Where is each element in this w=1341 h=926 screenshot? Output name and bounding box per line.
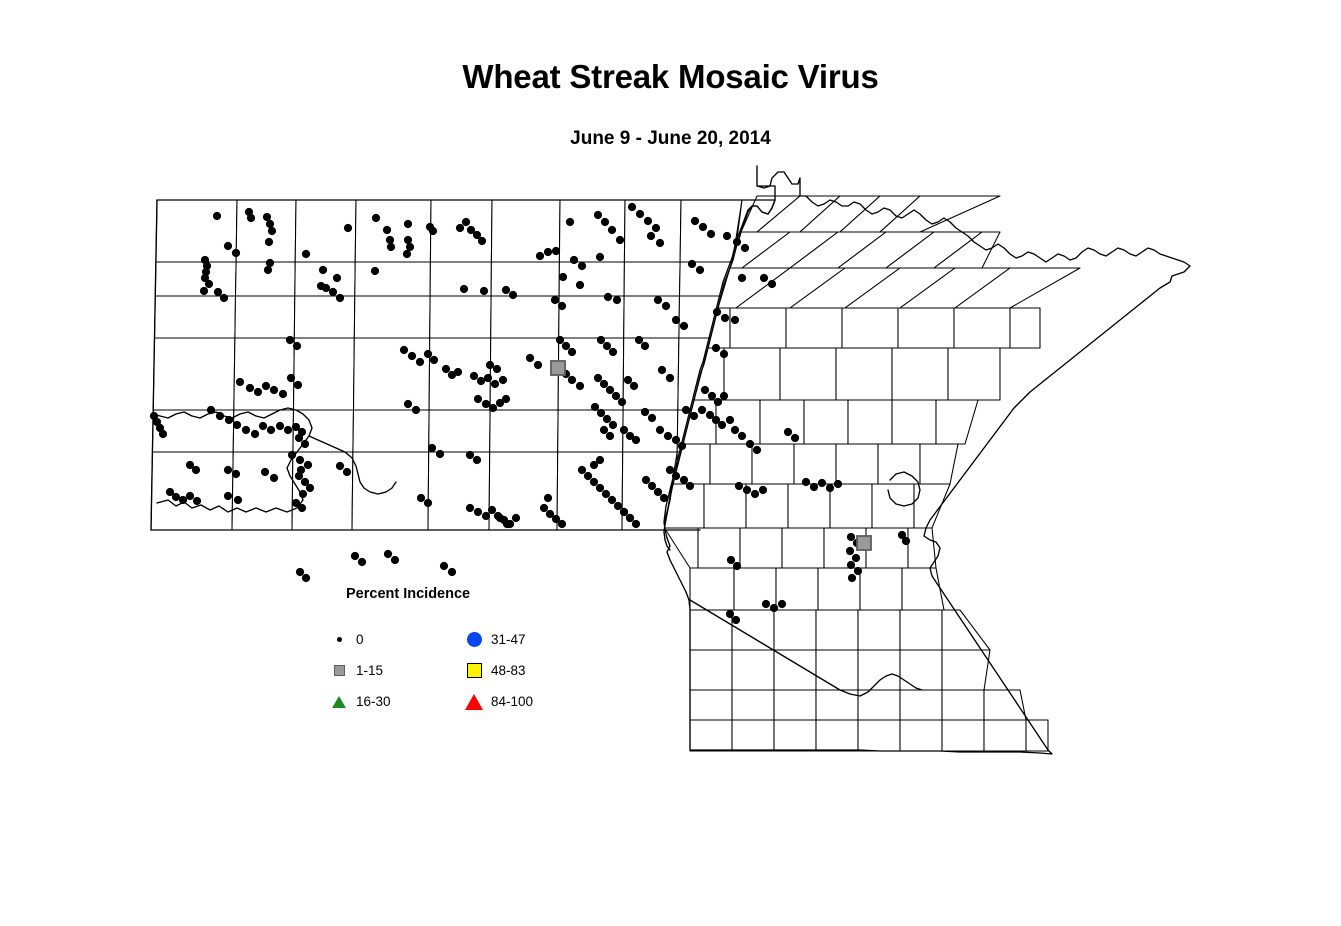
county-shape: [558, 410, 623, 452]
data-point-zero: [902, 537, 910, 545]
data-point-zero: [466, 504, 474, 512]
county-shape: [774, 650, 816, 690]
county-shape: [942, 650, 990, 690]
county-shape: [836, 348, 892, 400]
data-point-zero: [493, 365, 501, 373]
data-point-zero: [597, 409, 605, 417]
data-point-zero: [534, 361, 542, 369]
data-point-zero: [608, 226, 616, 234]
county-shape: [352, 452, 429, 530]
county-shape: [816, 720, 858, 751]
data-point-zero: [266, 259, 274, 267]
data-point-zero: [466, 451, 474, 459]
data-point-zero: [578, 262, 586, 270]
data-point-zero: [200, 287, 208, 295]
data-point-zero: [293, 342, 301, 350]
data-point-zero: [664, 432, 672, 440]
data-point-zero: [604, 293, 612, 301]
data-point-zero: [544, 248, 552, 256]
county-shape: [732, 690, 774, 720]
data-point-zero: [496, 514, 504, 522]
small-black-dot-icon: [326, 629, 352, 651]
data-point-zero: [440, 562, 448, 570]
data-point-zero: [302, 574, 310, 582]
county-shape: [234, 338, 294, 410]
legend-item-48-83: 48-83: [461, 655, 533, 686]
data-point-zero: [301, 440, 309, 448]
county-shape: [235, 296, 295, 338]
data-point-zero: [406, 243, 414, 251]
data-point-zero: [662, 302, 670, 310]
legend-item-84-100: 84-100: [461, 686, 533, 717]
county-shape: [892, 348, 948, 400]
data-point-zero: [286, 336, 294, 344]
data-point-zero: [648, 482, 656, 490]
county-shape: [1026, 720, 1048, 751]
data-point-zero: [721, 314, 729, 322]
data-point-zero: [296, 568, 304, 576]
data-point-zero: [474, 395, 482, 403]
legend-item-label: 31-47: [491, 632, 526, 647]
legend-item-0: 0: [326, 624, 391, 655]
data-point-zero: [608, 496, 616, 504]
data-point-zero: [489, 404, 497, 412]
data-point-zero: [412, 406, 420, 414]
data-point-zero: [416, 358, 424, 366]
data-point-zero: [616, 236, 624, 244]
data-point-zero: [224, 492, 232, 500]
county-shape: [690, 610, 732, 650]
county-shape: [860, 568, 902, 610]
legend-title: Percent Incidence: [346, 586, 470, 602]
data-point-zero: [594, 211, 602, 219]
page-root: Wheat Streak Mosaic Virus June 9 - June …: [0, 0, 1341, 926]
county-shape: [942, 610, 990, 650]
data-point-zero: [470, 372, 478, 380]
county-shape: [816, 650, 858, 690]
data-point-zero: [214, 288, 222, 296]
county-shape: [836, 444, 878, 484]
county-shape: [816, 610, 858, 650]
data-point-zero: [263, 213, 271, 221]
data-point-zero: [302, 250, 310, 258]
data-point-zero: [562, 342, 570, 350]
red-triangle-glyph: [465, 694, 483, 710]
data-point-zero: [482, 400, 490, 408]
data-point-zero: [192, 466, 200, 474]
data-point-zero: [682, 406, 690, 414]
data-point-zero: [738, 274, 746, 282]
county-shape: [788, 484, 830, 528]
legend-item-16-30: 16-30: [326, 686, 391, 717]
data-point-zero: [417, 494, 425, 502]
data-point-zero: [644, 217, 652, 225]
county-shape: [730, 308, 786, 348]
data-point-zero: [491, 380, 499, 388]
data-point-zero: [632, 520, 640, 528]
data-point-zero: [220, 294, 228, 302]
data-point-zero: [488, 506, 496, 514]
legend-item-label: 1-15: [356, 663, 383, 678]
data-point-zero: [186, 492, 194, 500]
data-point-zero: [319, 266, 327, 274]
data-point-zero: [641, 342, 649, 350]
data-point-zero: [597, 336, 605, 344]
data-point-zero: [296, 456, 304, 464]
data-point-zero: [566, 218, 574, 226]
county-shape: [942, 690, 984, 720]
legend-item-label: 84-100: [491, 694, 533, 709]
data-point-zero: [474, 508, 482, 516]
data-point-zero: [179, 496, 187, 504]
data-point-zero: [642, 476, 650, 484]
data-point-zero: [264, 266, 272, 274]
data-point-zero: [666, 466, 674, 474]
data-point-zero: [404, 236, 412, 244]
data-point-zero: [343, 468, 351, 476]
data-point-zero: [242, 426, 250, 434]
data-point-zero: [284, 426, 292, 434]
data-point-zero: [647, 232, 655, 240]
county-shape: [690, 690, 732, 720]
data-point-zero: [270, 474, 278, 482]
county-shape: [900, 720, 942, 751]
data-point-zero: [306, 484, 314, 492]
data-point-zero: [224, 242, 232, 250]
county-shape: [690, 650, 732, 690]
data-point-zero: [652, 224, 660, 232]
data-point-zero: [672, 436, 680, 444]
data-point-zero: [701, 386, 709, 394]
data-point-zero: [442, 365, 450, 373]
data-point-zero: [714, 398, 722, 406]
data-point-zero: [448, 568, 456, 576]
data-point-zero: [609, 421, 617, 429]
data-point-zero: [159, 430, 167, 438]
data-point-zero: [344, 224, 352, 232]
county-shape: [294, 338, 355, 410]
county-shape: [690, 720, 732, 751]
data-point-zero: [632, 436, 640, 444]
county-shape: [954, 308, 1010, 348]
county-shape: [842, 308, 898, 348]
county-shape: [294, 296, 355, 338]
data-point-zero: [430, 356, 438, 364]
data-point-zero: [834, 480, 842, 488]
data-point-zero: [606, 386, 614, 394]
county-shape: [740, 528, 782, 568]
county-shape: [354, 296, 430, 338]
data-point-zero: [172, 493, 180, 501]
data-point-zero: [428, 444, 436, 452]
county-shape: [355, 200, 431, 262]
data-point-zero: [298, 504, 306, 512]
data-point-zero: [680, 322, 688, 330]
county-shape: [559, 262, 624, 296]
data-point-zero: [746, 440, 754, 448]
data-point-zero: [601, 218, 609, 226]
data-point-zero: [603, 415, 611, 423]
data-point-zero: [735, 482, 743, 490]
data-point-zero: [658, 366, 666, 374]
data-point-zero: [686, 482, 694, 490]
data-point-zero: [391, 556, 399, 564]
county-shape: [858, 720, 900, 751]
data-point-zero: [568, 348, 576, 356]
data-point-zero: [404, 220, 412, 228]
data-point-zero: [613, 296, 621, 304]
county-shape: [429, 410, 490, 452]
data-point-zero: [429, 227, 437, 235]
county-shape: [732, 720, 774, 751]
data-point-zero: [473, 456, 481, 464]
data-point-zero: [265, 238, 273, 246]
data-point-zero: [387, 243, 395, 251]
county-shape: [892, 400, 936, 444]
data-point-zero: [636, 210, 644, 218]
data-point-zero: [503, 520, 511, 528]
county-shape: [900, 650, 942, 690]
county-shape: [898, 308, 954, 348]
data-point-zero: [720, 392, 728, 400]
data-point-zero: [372, 214, 380, 222]
data-point-zero: [596, 456, 604, 464]
data-point-zero: [251, 430, 259, 438]
county-shape: [557, 452, 623, 530]
data-point-zero: [288, 451, 296, 459]
data-point-zero: [552, 247, 560, 255]
gray-square-glyph: [334, 665, 345, 676]
data-point-zero: [620, 508, 628, 516]
data-point-zero: [234, 496, 242, 504]
county-shape: [153, 338, 235, 410]
county-shape: [794, 444, 836, 484]
legend-item-31-47: 31-47: [461, 624, 533, 655]
data-point-zero: [295, 472, 303, 480]
county-shape: [624, 296, 680, 338]
data-point-zero: [594, 374, 602, 382]
yellow-square-icon: [461, 660, 487, 682]
data-point-zero: [558, 520, 566, 528]
data-point-zero: [723, 232, 731, 240]
county-shape: [948, 348, 1000, 400]
data-point-zero: [502, 286, 510, 294]
data-point-zero: [791, 434, 799, 442]
county-shape: [920, 444, 958, 484]
data-point-zero: [509, 291, 517, 299]
data-point-zero: [696, 266, 704, 274]
data-point-zero: [628, 203, 636, 211]
data-point-zero: [818, 479, 826, 487]
data-point-zero: [299, 490, 307, 498]
data-point-zero: [698, 406, 706, 414]
small-black-dot-glyph: [337, 637, 342, 642]
county-shape: [732, 650, 774, 690]
data-point-zero: [247, 214, 255, 222]
legend-item-label: 0: [356, 632, 364, 647]
data-point-zero: [576, 382, 584, 390]
data-point-zero: [596, 253, 604, 261]
county-shape: [774, 610, 816, 650]
data-point-zero: [731, 426, 739, 434]
data-point-zero: [726, 416, 734, 424]
county-shape: [354, 338, 430, 410]
data-point-zero: [424, 350, 432, 358]
data-point-zero: [768, 280, 776, 288]
county-map: [0, 0, 1341, 926]
data-point-zero: [351, 552, 359, 560]
data-point-zero: [590, 478, 598, 486]
data-point-zero: [225, 416, 233, 424]
data-point-zero: [193, 497, 201, 505]
data-point-1-15: [551, 361, 565, 375]
data-point-zero: [478, 237, 486, 245]
county-shape: [782, 528, 824, 568]
county-shape: [774, 720, 816, 751]
data-point-zero: [626, 514, 634, 522]
data-point-zero: [672, 472, 680, 480]
county-shape: [430, 296, 491, 338]
data-point-zero: [726, 610, 734, 618]
data-point-zero: [648, 414, 656, 422]
county-shape: [942, 720, 984, 751]
data-point-zero: [502, 395, 510, 403]
data-point-zero: [847, 533, 855, 541]
data-point-zero: [279, 390, 287, 398]
data-point-zero: [614, 502, 622, 510]
data-point-zero: [656, 239, 664, 247]
data-point-zero: [688, 260, 696, 268]
data-point-zero: [224, 466, 232, 474]
county-shape: [624, 262, 680, 296]
county-shape: [491, 262, 559, 296]
county-shape: [786, 308, 842, 348]
county-shape: [428, 452, 490, 530]
data-point-zero: [304, 461, 312, 469]
data-point-zero: [456, 224, 464, 232]
data-point-zero: [268, 227, 276, 235]
data-point-zero: [743, 486, 751, 494]
data-point-zero: [482, 512, 490, 520]
data-point-zero: [254, 388, 262, 396]
data-point-zero: [236, 378, 244, 386]
data-point-zero: [846, 547, 854, 555]
green-triangle-glyph: [332, 696, 346, 708]
data-point-zero: [384, 550, 392, 558]
data-point-zero: [262, 382, 270, 390]
county-shape: [155, 262, 236, 296]
data-point-zero: [733, 562, 741, 570]
county-shape: [804, 400, 848, 444]
data-point-zero: [216, 412, 224, 420]
data-point-zero: [480, 287, 488, 295]
county-shape: [724, 348, 780, 400]
data-point-zero: [499, 376, 507, 384]
data-point-zero: [854, 567, 862, 575]
data-point-zero: [266, 220, 274, 228]
data-point-zero: [727, 556, 735, 564]
data-point-zero: [259, 422, 267, 430]
data-point-zero: [556, 336, 564, 344]
data-point-zero: [606, 432, 614, 440]
data-point-zero: [568, 376, 576, 384]
data-point-zero: [578, 466, 586, 474]
county-shape: [902, 568, 944, 610]
data-point-zero: [462, 218, 470, 226]
data-point-zero: [602, 490, 610, 498]
data-point-zero: [584, 472, 592, 480]
data-point-zero: [232, 470, 240, 478]
legend-item-label: 48-83: [491, 663, 526, 678]
data-point-zero: [329, 288, 337, 296]
legend-column-left: 01-1516-30: [326, 624, 391, 717]
data-point-zero: [810, 483, 818, 491]
data-point-zero: [733, 238, 741, 246]
legend-item-label: 16-30: [356, 694, 391, 709]
data-point-1-15: [857, 536, 871, 550]
data-point-zero: [333, 274, 341, 282]
county-shape: [872, 484, 914, 528]
data-point-zero: [848, 574, 856, 582]
data-point-zero: [741, 244, 749, 252]
data-point-zero: [213, 212, 221, 220]
data-point-zero: [738, 432, 746, 440]
data-point-zero: [847, 561, 855, 569]
blue-circle-icon: [461, 629, 487, 651]
data-point-zero: [207, 406, 215, 414]
county-shape: [236, 200, 296, 262]
data-point-zero: [707, 230, 715, 238]
data-point-zero: [609, 348, 617, 356]
county-shape: [155, 296, 236, 338]
data-point-zero: [690, 412, 698, 420]
data-point-zero: [759, 486, 767, 494]
data-point-zero: [526, 354, 534, 362]
county-shape: [780, 348, 836, 400]
data-point-zero: [770, 604, 778, 612]
data-point-zero: [558, 302, 566, 310]
county-shape: [1010, 308, 1040, 348]
data-point-zero: [424, 499, 432, 507]
county-shape: [774, 690, 816, 720]
data-point-zero: [317, 282, 325, 290]
data-point-zero: [408, 352, 416, 360]
data-point-zero: [404, 400, 412, 408]
county-shape: [491, 296, 559, 338]
data-point-zero: [261, 468, 269, 476]
data-point-zero: [358, 558, 366, 566]
data-point-zero: [612, 392, 620, 400]
data-point-zero: [536, 252, 544, 260]
county-shape: [704, 484, 746, 528]
data-point-zero: [760, 274, 768, 282]
county-shape: [232, 452, 293, 530]
data-point-zero: [699, 223, 707, 231]
county-shape: [732, 610, 774, 650]
data-point-zero: [708, 392, 716, 400]
data-point-zero: [732, 616, 740, 624]
data-point-zero: [294, 381, 302, 389]
data-point-zero: [386, 236, 394, 244]
data-point-zero: [678, 442, 686, 450]
data-point-zero: [680, 476, 688, 484]
county-shape: [858, 610, 900, 650]
county-shape: [353, 410, 429, 452]
data-point-zero: [276, 422, 284, 430]
blue-circle-glyph: [467, 632, 482, 647]
red-triangle-icon: [461, 691, 487, 713]
county-shape: [984, 690, 1026, 720]
